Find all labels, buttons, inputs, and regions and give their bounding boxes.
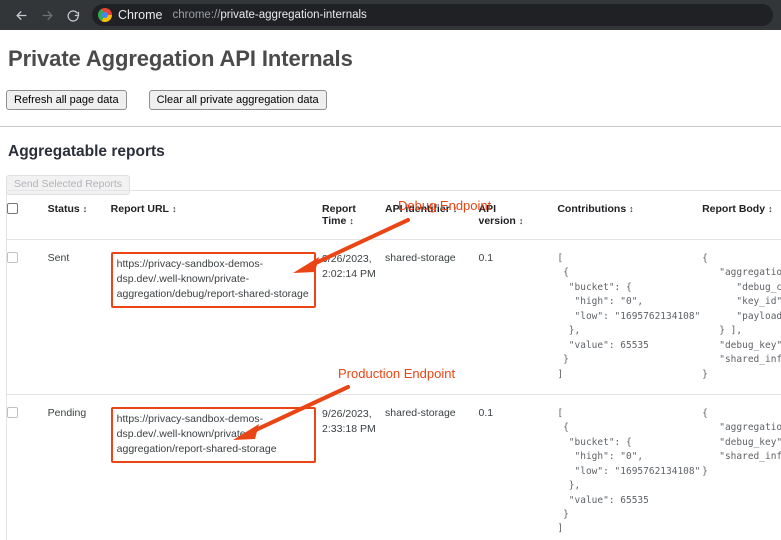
row-select-cell[interactable] xyxy=(7,394,48,540)
cell-api-identifier: shared-storage xyxy=(385,394,478,540)
cell-status: Pending xyxy=(48,394,111,540)
back-arrow-icon[interactable] xyxy=(8,2,34,28)
report-url-highlight: https://privacy-sandbox-demos-dsp.dev/.w… xyxy=(111,407,316,463)
cell-api-version: 0.1 xyxy=(479,394,532,540)
report-body-json: { "aggregatio "debug_key" "shared_inf } xyxy=(702,407,781,479)
browser-brand-label: Chrome xyxy=(118,8,162,22)
header-contributions-label: Contributions xyxy=(531,203,626,215)
aggregatable-reports-table-container: Status↕ Report URL↕ Report Time↕ API ide… xyxy=(6,190,781,540)
row-checkbox[interactable] xyxy=(7,407,18,418)
contributions-json: [ { "bucket": { "high": "0", "low": "169… xyxy=(531,407,696,537)
page-content: Private Aggregation API Internals Refres… xyxy=(0,30,781,540)
reload-icon[interactable] xyxy=(60,2,86,28)
sort-icon[interactable]: ↕ xyxy=(172,204,177,214)
cell-report-time: 9/26/2023, 2:33:18 PM xyxy=(322,394,385,540)
header-contributions[interactable]: Contributions↕ xyxy=(531,191,702,240)
address-bar[interactable]: Chrome chrome://private-aggregation-inte… xyxy=(92,4,773,26)
refresh-all-page-data-button[interactable]: Refresh all page data xyxy=(6,90,127,110)
header-status-label: Status xyxy=(48,203,80,215)
row-select-cell[interactable] xyxy=(7,240,48,395)
chrome-logo-icon xyxy=(98,8,112,22)
cell-report-body: { "aggregatio "debug_c "key_id" "payload… xyxy=(702,240,781,395)
address-bar-url: chrome://private-aggregation-internals xyxy=(172,9,366,21)
contributions-json: [ { "bucket": { "high": "0", "low": "169… xyxy=(531,252,696,382)
forward-arrow-icon[interactable] xyxy=(34,2,60,28)
header-report-url-label: Report URL xyxy=(111,203,169,215)
cell-contributions: [ { "bucket": { "high": "0", "low": "169… xyxy=(531,240,702,395)
table-body: Sent https://privacy-sandbox-demos-dsp.d… xyxy=(7,240,781,540)
header-report-body[interactable]: Report Body↕ xyxy=(702,191,781,240)
cell-report-body: { "aggregatio "debug_key" "shared_inf } xyxy=(702,394,781,540)
divider xyxy=(0,126,781,127)
header-select-all[interactable] xyxy=(7,191,48,240)
report-url-highlight: https://privacy-sandbox-demos-dsp.dev/.w… xyxy=(111,252,316,308)
cell-contributions: [ { "bucket": { "high": "0", "low": "169… xyxy=(531,394,702,540)
url-path: private-aggregation-internals xyxy=(220,9,366,21)
row-checkbox[interactable] xyxy=(7,252,18,263)
cell-report-url: https://privacy-sandbox-demos-dsp.dev/.w… xyxy=(111,240,322,395)
header-report-body-label: Report Body xyxy=(702,203,765,215)
header-report-time[interactable]: Report Time↕ xyxy=(322,191,385,240)
table-header-row: Status↕ Report URL↕ Report Time↕ API ide… xyxy=(7,191,781,240)
cell-status: Sent xyxy=(48,240,111,395)
select-all-checkbox[interactable] xyxy=(7,203,18,214)
header-report-url[interactable]: Report URL↕ xyxy=(111,191,322,240)
table-row[interactable]: Pending https://privacy-sandbox-demos-ds… xyxy=(7,394,781,540)
report-body-json: { "aggregatio "debug_c "key_id" "payload… xyxy=(702,252,781,382)
clear-all-private-aggregation-data-button[interactable]: Clear all private aggregation data xyxy=(149,90,327,110)
sort-icon[interactable]: ↕ xyxy=(349,216,354,226)
sort-icon[interactable]: ↕ xyxy=(519,216,524,226)
annotation-production-endpoint: Production Endpoint xyxy=(338,366,455,381)
sort-icon[interactable]: ↕ xyxy=(83,204,88,214)
header-status[interactable]: Status↕ xyxy=(48,191,111,240)
browser-toolbar: Chrome chrome://private-aggregation-inte… xyxy=(0,0,781,30)
sort-icon[interactable]: ↕ xyxy=(768,204,773,214)
table-header: Status↕ Report URL↕ Report Time↕ API ide… xyxy=(7,191,781,240)
page-action-buttons: Refresh all page data Clear all private … xyxy=(6,90,781,110)
cell-report-url: https://privacy-sandbox-demos-dsp.dev/.w… xyxy=(111,394,322,540)
annotation-debug-endpoint: Debug Endpoint xyxy=(398,198,491,213)
section-title-aggregatable-reports: Aggregatable reports xyxy=(8,143,781,161)
sort-icon[interactable]: ↕ xyxy=(629,204,634,214)
page-title: Private Aggregation API Internals xyxy=(8,46,781,72)
url-scheme: chrome:// xyxy=(172,9,220,21)
cell-api-version: 0.1 xyxy=(479,240,532,395)
